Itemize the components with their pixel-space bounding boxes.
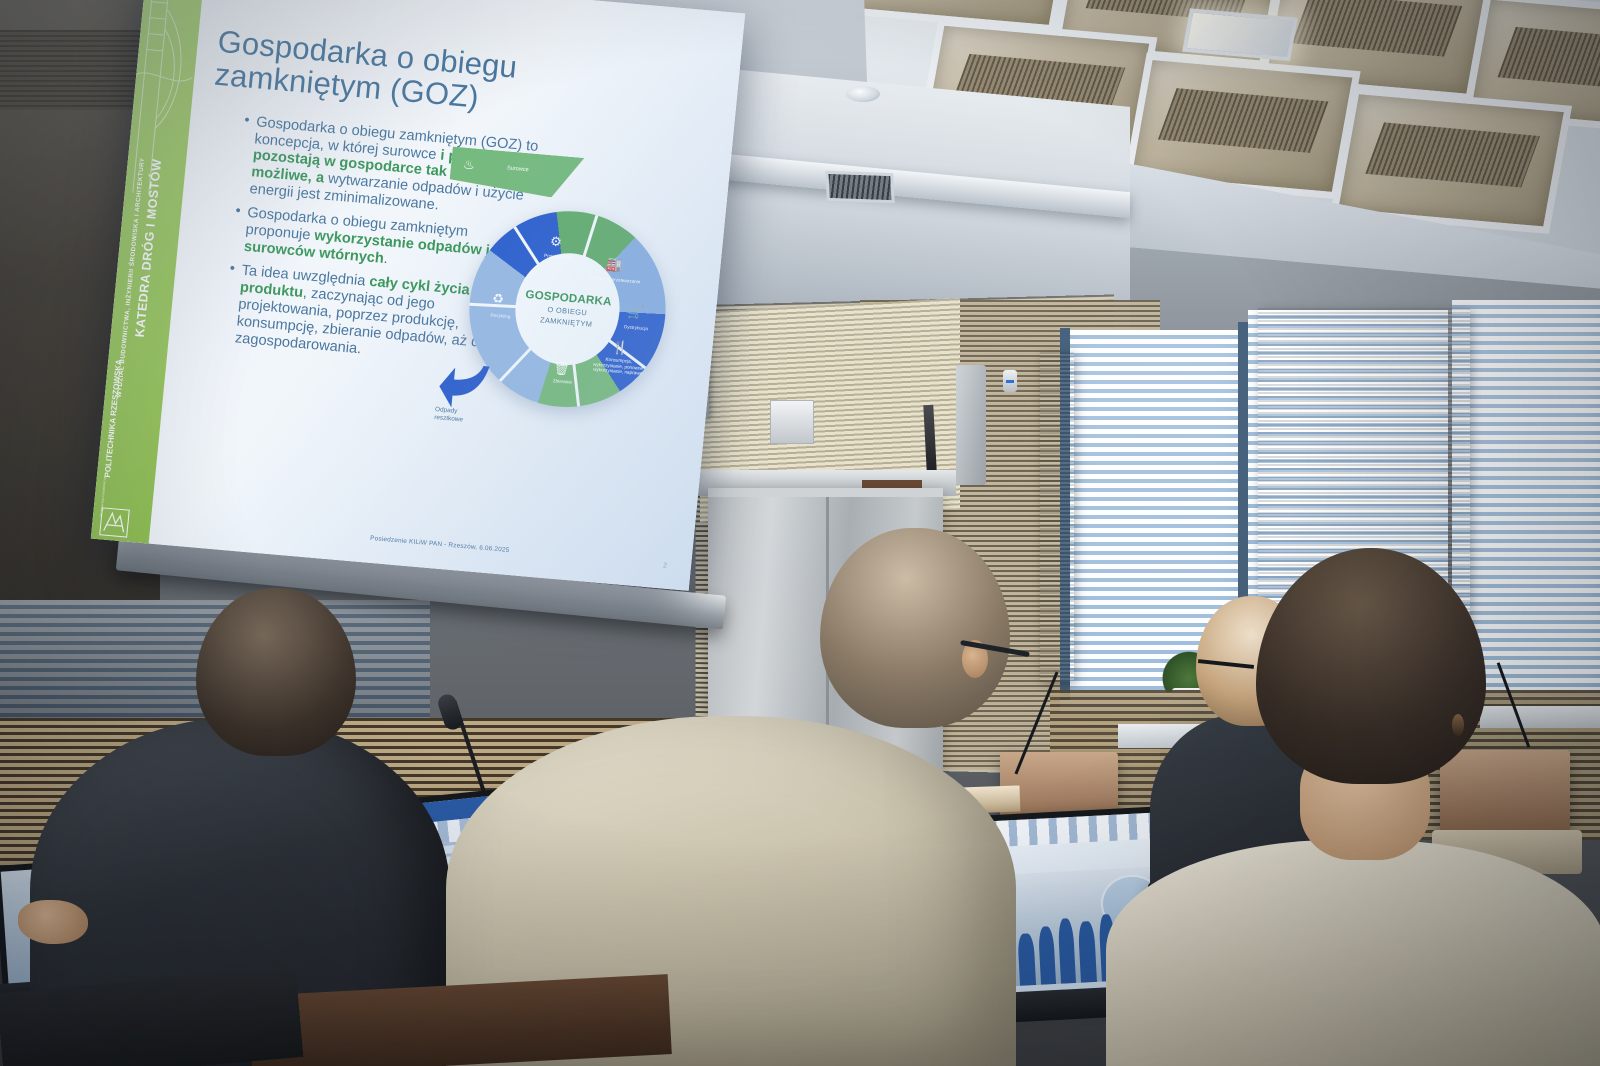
chair-back-row[interactable] — [1440, 750, 1570, 836]
waste-bin-icon: 🗑 — [547, 360, 576, 378]
segment-label-projektowanie: Projektowanie — [532, 252, 584, 262]
attendee-left-hand — [18, 900, 88, 944]
raw-materials-label: Surowce — [507, 165, 529, 173]
presentation-slide: KATEDRA DRÓG I MOSTÓW WYDZIAŁ BUDOWNICTW… — [91, 0, 745, 591]
university-name: POLITECHNIKA RZESZOWSKA — [103, 359, 124, 478]
university-mark-icon — [99, 507, 130, 537]
fork-and-knife-icon: 🍴 — [605, 339, 634, 357]
back-table — [1480, 706, 1600, 728]
bullet-2-part-3: . — [383, 251, 389, 267]
residual-waste-label: Odpady resztkowe — [434, 406, 505, 428]
photo-person — [1078, 921, 1096, 982]
ceiling-vent — [1292, 0, 1462, 56]
ceiling-vent — [1158, 88, 1329, 153]
wall-speaker-icon — [956, 365, 986, 485]
photo-person — [1058, 918, 1077, 983]
photo-person — [1038, 926, 1056, 985]
slide-footer: Posiedzenie KILiW PAN - Rzeszów, 6.06.20… — [370, 535, 510, 554]
diagram-hub: GOSPODARKA O OBIEGU ZAMKNIĘTYM — [514, 287, 621, 331]
smoke-detector-icon — [846, 86, 880, 102]
segment-label-zbieranie: Zbieranie — [536, 377, 588, 387]
attendee-center-head — [820, 528, 1010, 728]
photo-scene: KATEDRA DRÓG I MOSTÓW WYDZIAŁ BUDOWNICTW… — [0, 0, 1600, 1066]
circular-economy-diagram: ♨ Surowce ⚙ Projektowanie 🏭 Produkcja, p… — [430, 139, 696, 478]
water-drop-and-tree-icon: ♨ — [462, 157, 475, 174]
head-with-gears-icon: ⚙ — [541, 233, 570, 251]
ceiling-light — [1182, 8, 1298, 61]
recycling-arrows-icon: ♻ — [483, 290, 512, 308]
attendee-right-torso — [1106, 840, 1600, 1066]
projection-screen: KATEDRA DRÓG I MOSTÓW WYDZIAŁ BUDOWNICTW… — [91, 0, 745, 591]
photo-person — [1018, 933, 1036, 985]
shopping-cart-icon: 🛒 — [621, 304, 650, 322]
ceiling-vent — [1498, 27, 1600, 91]
earring-icon — [1452, 714, 1464, 736]
segment-label-produkcja: Produkcja, przetwarzanie — [588, 275, 640, 285]
roller-shade[interactable] — [1040, 352, 1074, 682]
cycle-wheel: ⚙ Projektowanie 🏭 Produkcja, przetwarzan… — [460, 203, 674, 415]
ceiling-vent — [1365, 122, 1540, 187]
projector-mount — [770, 400, 814, 444]
slide-page-number: 2 — [663, 562, 668, 569]
attendee-left-head — [196, 588, 356, 756]
university-logo: POLITECHNIKA RZESZOWSKA im. Ignacego Łuk… — [99, 359, 160, 522]
raw-materials-banner: ♨ Surowce — [449, 147, 585, 200]
soffit-vent — [825, 171, 894, 203]
factory-and-tree-icon: 🏭 — [599, 256, 628, 274]
motion-sensor-icon — [1003, 370, 1017, 392]
segment-label-konsumpcja: Konsumpcja, wykorzystanie, ponowne wykor… — [591, 356, 644, 377]
